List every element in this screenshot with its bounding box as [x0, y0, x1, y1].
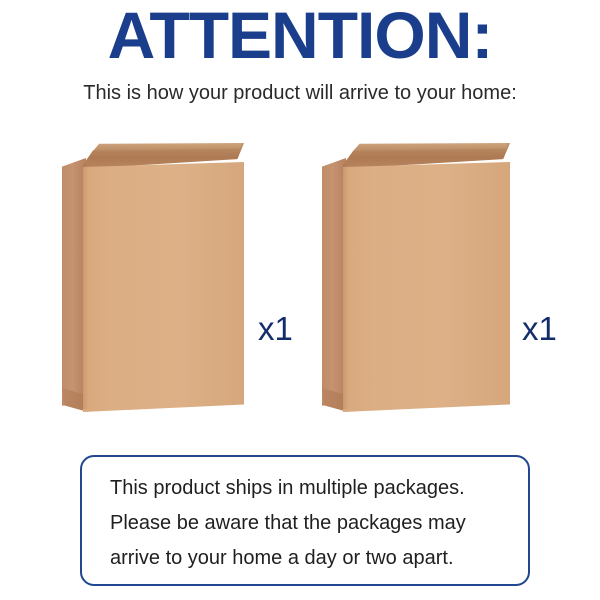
page-title: ATTENTION:: [0, 0, 600, 72]
package-item-1: x1: [62, 140, 307, 425]
package-item-2: x1: [322, 140, 572, 425]
box-front-face: [83, 162, 244, 412]
package-quantity-label-1: x1: [258, 312, 293, 345]
packages-illustration: x1 x1: [0, 140, 600, 440]
notice-line-1: This product ships in multiple packages.: [110, 471, 510, 506]
box-front-face: [343, 162, 510, 412]
attention-shipping-notice-graphic: ATTENTION: This is how your product will…: [0, 0, 600, 600]
cardboard-box-icon: [62, 140, 244, 415]
page-subtitle: This is how your product will arrive to …: [0, 80, 600, 106]
shipping-notice-callout: This product ships in multiple packages.…: [80, 455, 530, 586]
shipping-notice-text: This product ships in multiple packages.…: [110, 471, 510, 576]
box-front-seam: [343, 164, 349, 409]
cardboard-box-icon: [322, 140, 510, 415]
notice-line-2: Please be aware that the packages may: [110, 506, 510, 541]
box-front-seam: [83, 164, 89, 409]
package-quantity-label-2: x1: [522, 312, 557, 345]
notice-line-3: arrive to your home a day or two apart.: [110, 541, 510, 576]
